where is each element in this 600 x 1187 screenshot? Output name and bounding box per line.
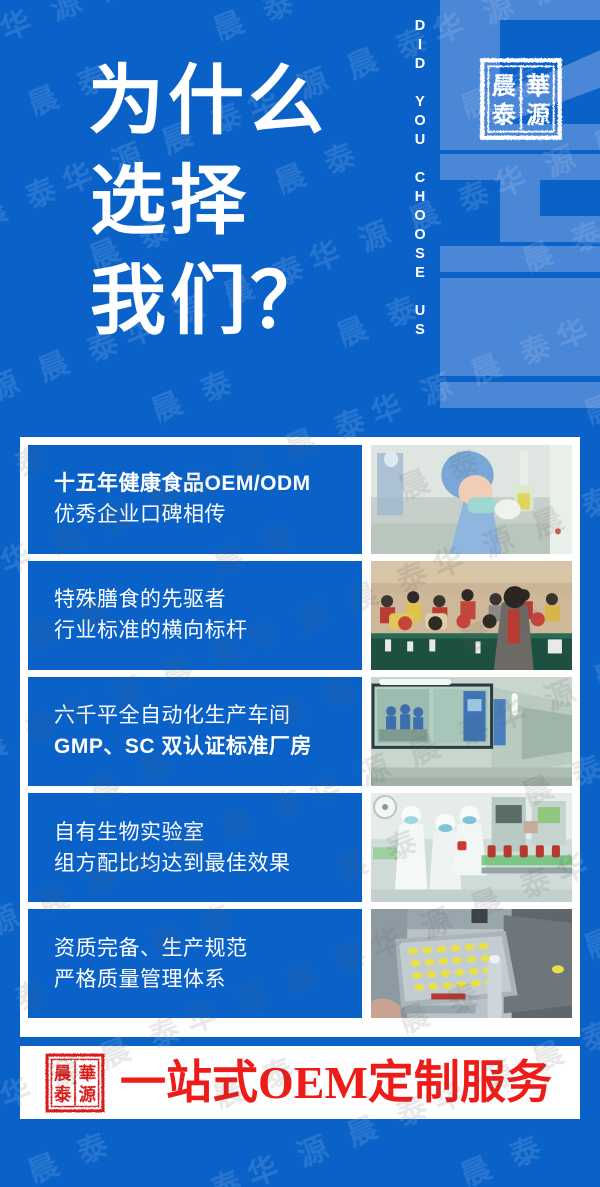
card-line-1: 资质完备、生产规范 xyxy=(54,933,354,964)
poster-root: 为什么 选择 我们？ DID YOU CHOOSE US xyxy=(0,0,600,1187)
card-line-2: 组方配比均达到最佳效果 xyxy=(54,848,354,879)
card-line-1: 特殊膳食的先驱者 xyxy=(54,584,354,615)
card-text-block: 资质完备、生产规范 严格质量管理体系 xyxy=(28,909,362,1018)
card-text-block: 自有生物实验室 组方配比均达到最佳效果 xyxy=(28,793,362,902)
list-item[interactable]: 六千平全自动化生产车间 GMP、SC 双认证标准厂房 xyxy=(28,677,572,786)
card-line-1: 十五年健康食品OEM/ODM xyxy=(54,468,354,499)
list-item[interactable]: 自有生物实验室 组方配比均达到最佳效果 xyxy=(28,793,572,902)
card-line-1: 六千平全自动化生产车间 xyxy=(54,700,354,731)
seal-char-hua: 華 xyxy=(79,1064,96,1083)
card-line-2: GMP、SC 双认证标准厂房 xyxy=(54,731,354,762)
page-title-line-1: 为什么 xyxy=(88,52,388,152)
seal-char-tai: 泰 xyxy=(53,1084,72,1104)
footer-banner: 華 源 晨 泰 一站式OEM定制服务 xyxy=(20,1046,580,1119)
card-line-2: 优秀企业口碑相传 xyxy=(54,499,354,530)
card-text-block: 十五年健康食品OEM/ODM 优秀企业口碑相传 xyxy=(28,445,362,554)
card-line-1: 自有生物实验室 xyxy=(54,817,354,848)
seal-char-hua: 華 xyxy=(526,73,550,100)
vertical-subtitle: DID YOU CHOOSE US xyxy=(394,18,428,418)
page-title: 为什么 选择 我们？ xyxy=(88,52,388,352)
seal-char-chen: 晨 xyxy=(492,74,517,100)
card-text-block: 特殊膳食的先驱者 行业标准的横向标杆 xyxy=(28,561,362,670)
company-seal-red: 華 源 晨 泰 xyxy=(44,1052,106,1114)
page-title-line-2: 选择 xyxy=(88,152,388,252)
photo-lab-technician-pipetting xyxy=(371,445,572,554)
benefits-card-list: 十五年健康食品OEM/ODM 优秀企业口碑相传 xyxy=(20,437,580,1037)
photo-conference-audience xyxy=(371,561,572,670)
footer-headline: 一站式OEM定制服务 xyxy=(120,1057,552,1109)
list-item[interactable]: 资质完备、生产规范 严格质量管理体系 xyxy=(28,909,572,1018)
card-line-2: 严格质量管理体系 xyxy=(54,964,354,995)
list-item[interactable]: 特殊膳食的先驱者 行业标准的横向标杆 xyxy=(28,561,572,670)
card-text-block: 六千平全自动化生产车间 GMP、SC 双认证标准厂房 xyxy=(28,677,362,786)
page-title-line-3: 我们？ xyxy=(88,252,388,352)
seal-char-tai: 泰 xyxy=(492,102,517,129)
seal-char-chen: 晨 xyxy=(54,1064,72,1083)
seal-char-yuan: 源 xyxy=(79,1084,97,1104)
photo-cleanroom-corridor xyxy=(371,677,572,786)
card-line-2: 行业标准的横向标杆 xyxy=(54,615,354,646)
photo-staff-inspecting-line xyxy=(371,793,572,902)
header-section: 为什么 选择 我们？ DID YOU CHOOSE US xyxy=(0,0,600,437)
list-item[interactable]: 十五年健康食品OEM/ODM 优秀企业口碑相传 xyxy=(28,445,572,554)
company-seal-white: 華 源 晨 泰 xyxy=(478,56,564,142)
photo-tablet-packaging-machine xyxy=(371,909,572,1018)
seal-char-yuan: 源 xyxy=(526,102,550,129)
